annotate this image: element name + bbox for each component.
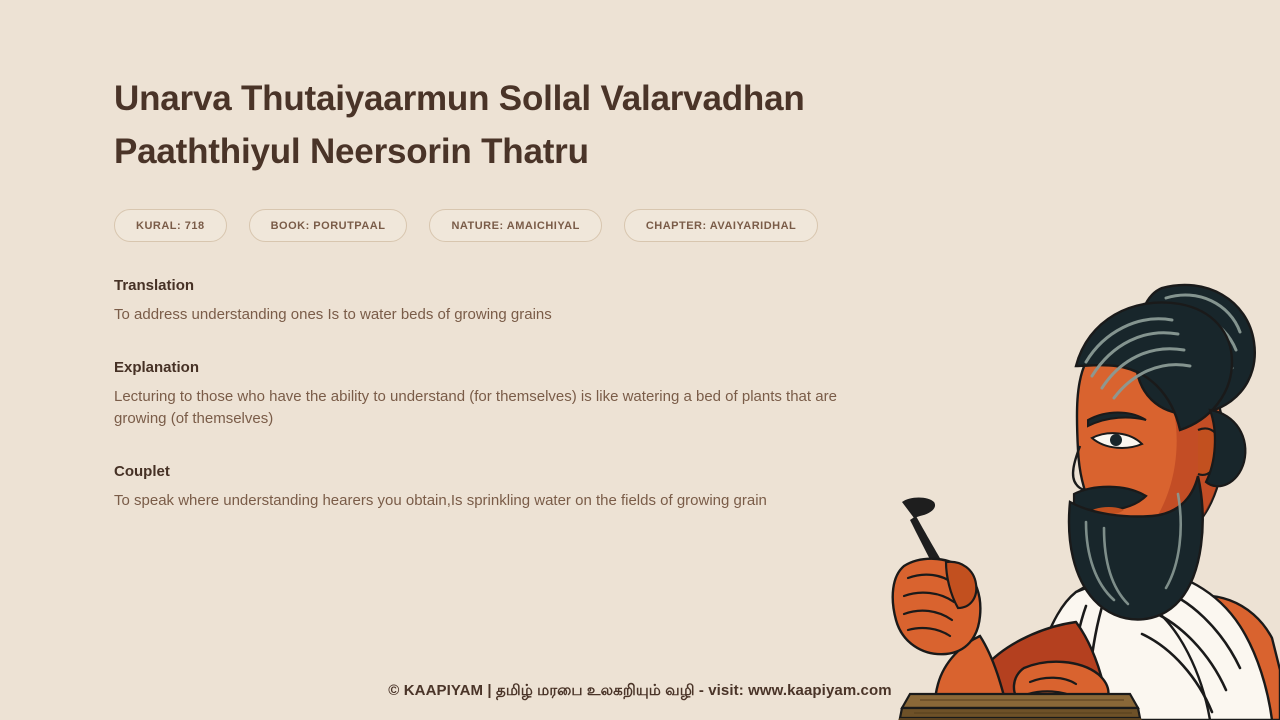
explanation-body: Lecturing to those who have the ability … [114,386,866,430]
pill-chapter[interactable]: CHAPTER: AVAIYARIDHAL [624,209,818,242]
section-explanation: Explanation Lecturing to those who have … [114,359,904,430]
translation-body: To address understanding ones Is to wate… [114,304,874,326]
pill-book[interactable]: BOOK: PORUTPAAL [249,209,408,242]
couplet-heading: Couplet [114,463,904,480]
meta-pill-group: KURAL: 718 BOOK: PORUTPAAL NATURE: AMAIC… [114,209,904,242]
pill-kural[interactable]: KURAL: 718 [114,209,227,242]
thiruvalluvar-writing-illustration [880,270,1280,720]
section-translation: Translation To address understanding one… [114,277,904,326]
page-title: Unarva Thutaiyaarmun Sollal Valarvadhan … [114,72,874,178]
stylus [902,498,978,632]
sections: Translation To address understanding one… [114,277,904,512]
couplet-body: To speak where understanding hearers you… [114,490,874,512]
pill-nature[interactable]: NATURE: AMAICHIYAL [429,209,601,242]
explanation-heading: Explanation [114,359,904,376]
section-couplet: Couplet To speak where understanding hea… [114,463,904,512]
footer-credit: © KAAPIYAM | தமிழ் மரபை உலகறியும் வழி - … [0,682,1280,701]
card-content: Unarva Thutaiyaarmun Sollal Valarvadhan … [114,72,904,512]
translation-heading: Translation [114,277,904,294]
kural-card: Unarva Thutaiyaarmun Sollal Valarvadhan … [0,0,1280,720]
